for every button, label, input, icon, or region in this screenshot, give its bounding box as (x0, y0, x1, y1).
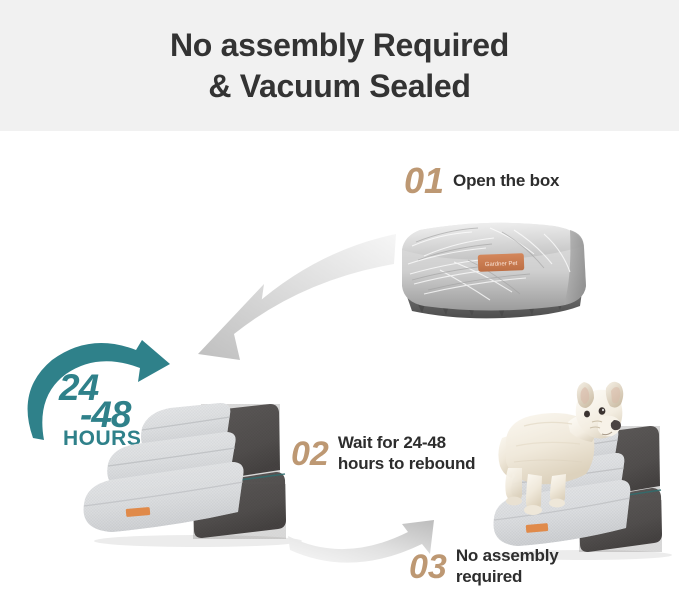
step-03-text: No assembly required (456, 546, 559, 587)
header-banner: No assembly Required & Vacuum Sealed (0, 0, 679, 131)
step-01-number: 01 (404, 163, 444, 199)
step-01-text: Open the box (453, 171, 559, 192)
page-title: No assembly Required & Vacuum Sealed (170, 25, 509, 107)
step-02-text: Wait for 24-48 hours to rebound (338, 433, 476, 474)
pet-stairs-icon-left (80, 398, 310, 548)
step-02-number: 02 (291, 437, 329, 471)
page-title-line-1: No assembly Required (170, 27, 509, 63)
step-02-text-line-2: hours to rebound (338, 454, 476, 475)
step-03-label: 03 No assembly required (409, 546, 559, 587)
page-title-line-2: & Vacuum Sealed (170, 66, 509, 107)
step-03-text-line-2: required (456, 567, 559, 588)
step-01-label: 01 Open the box (404, 163, 559, 199)
svg-text:Gardner Pet: Gardner Pet (485, 261, 518, 268)
step-03-text-line-1: No assembly (456, 546, 559, 567)
step-01-text-line-1: Open the box (453, 171, 559, 192)
vacuum-sealed-package-icon: Gardner Pet (394, 216, 594, 321)
french-bulldog-icon (494, 382, 626, 522)
infographic-canvas: No assembly Required & Vacuum Sealed 01 … (0, 0, 679, 599)
package-brand-label: Gardner Pet (478, 253, 525, 272)
step-02-label: 02 Wait for 24-48 hours to rebound (291, 433, 475, 474)
step-03-number: 03 (409, 550, 447, 584)
arrow-box-to-stairs (168, 228, 398, 363)
step-02-text-line-1: Wait for 24-48 (338, 433, 476, 454)
